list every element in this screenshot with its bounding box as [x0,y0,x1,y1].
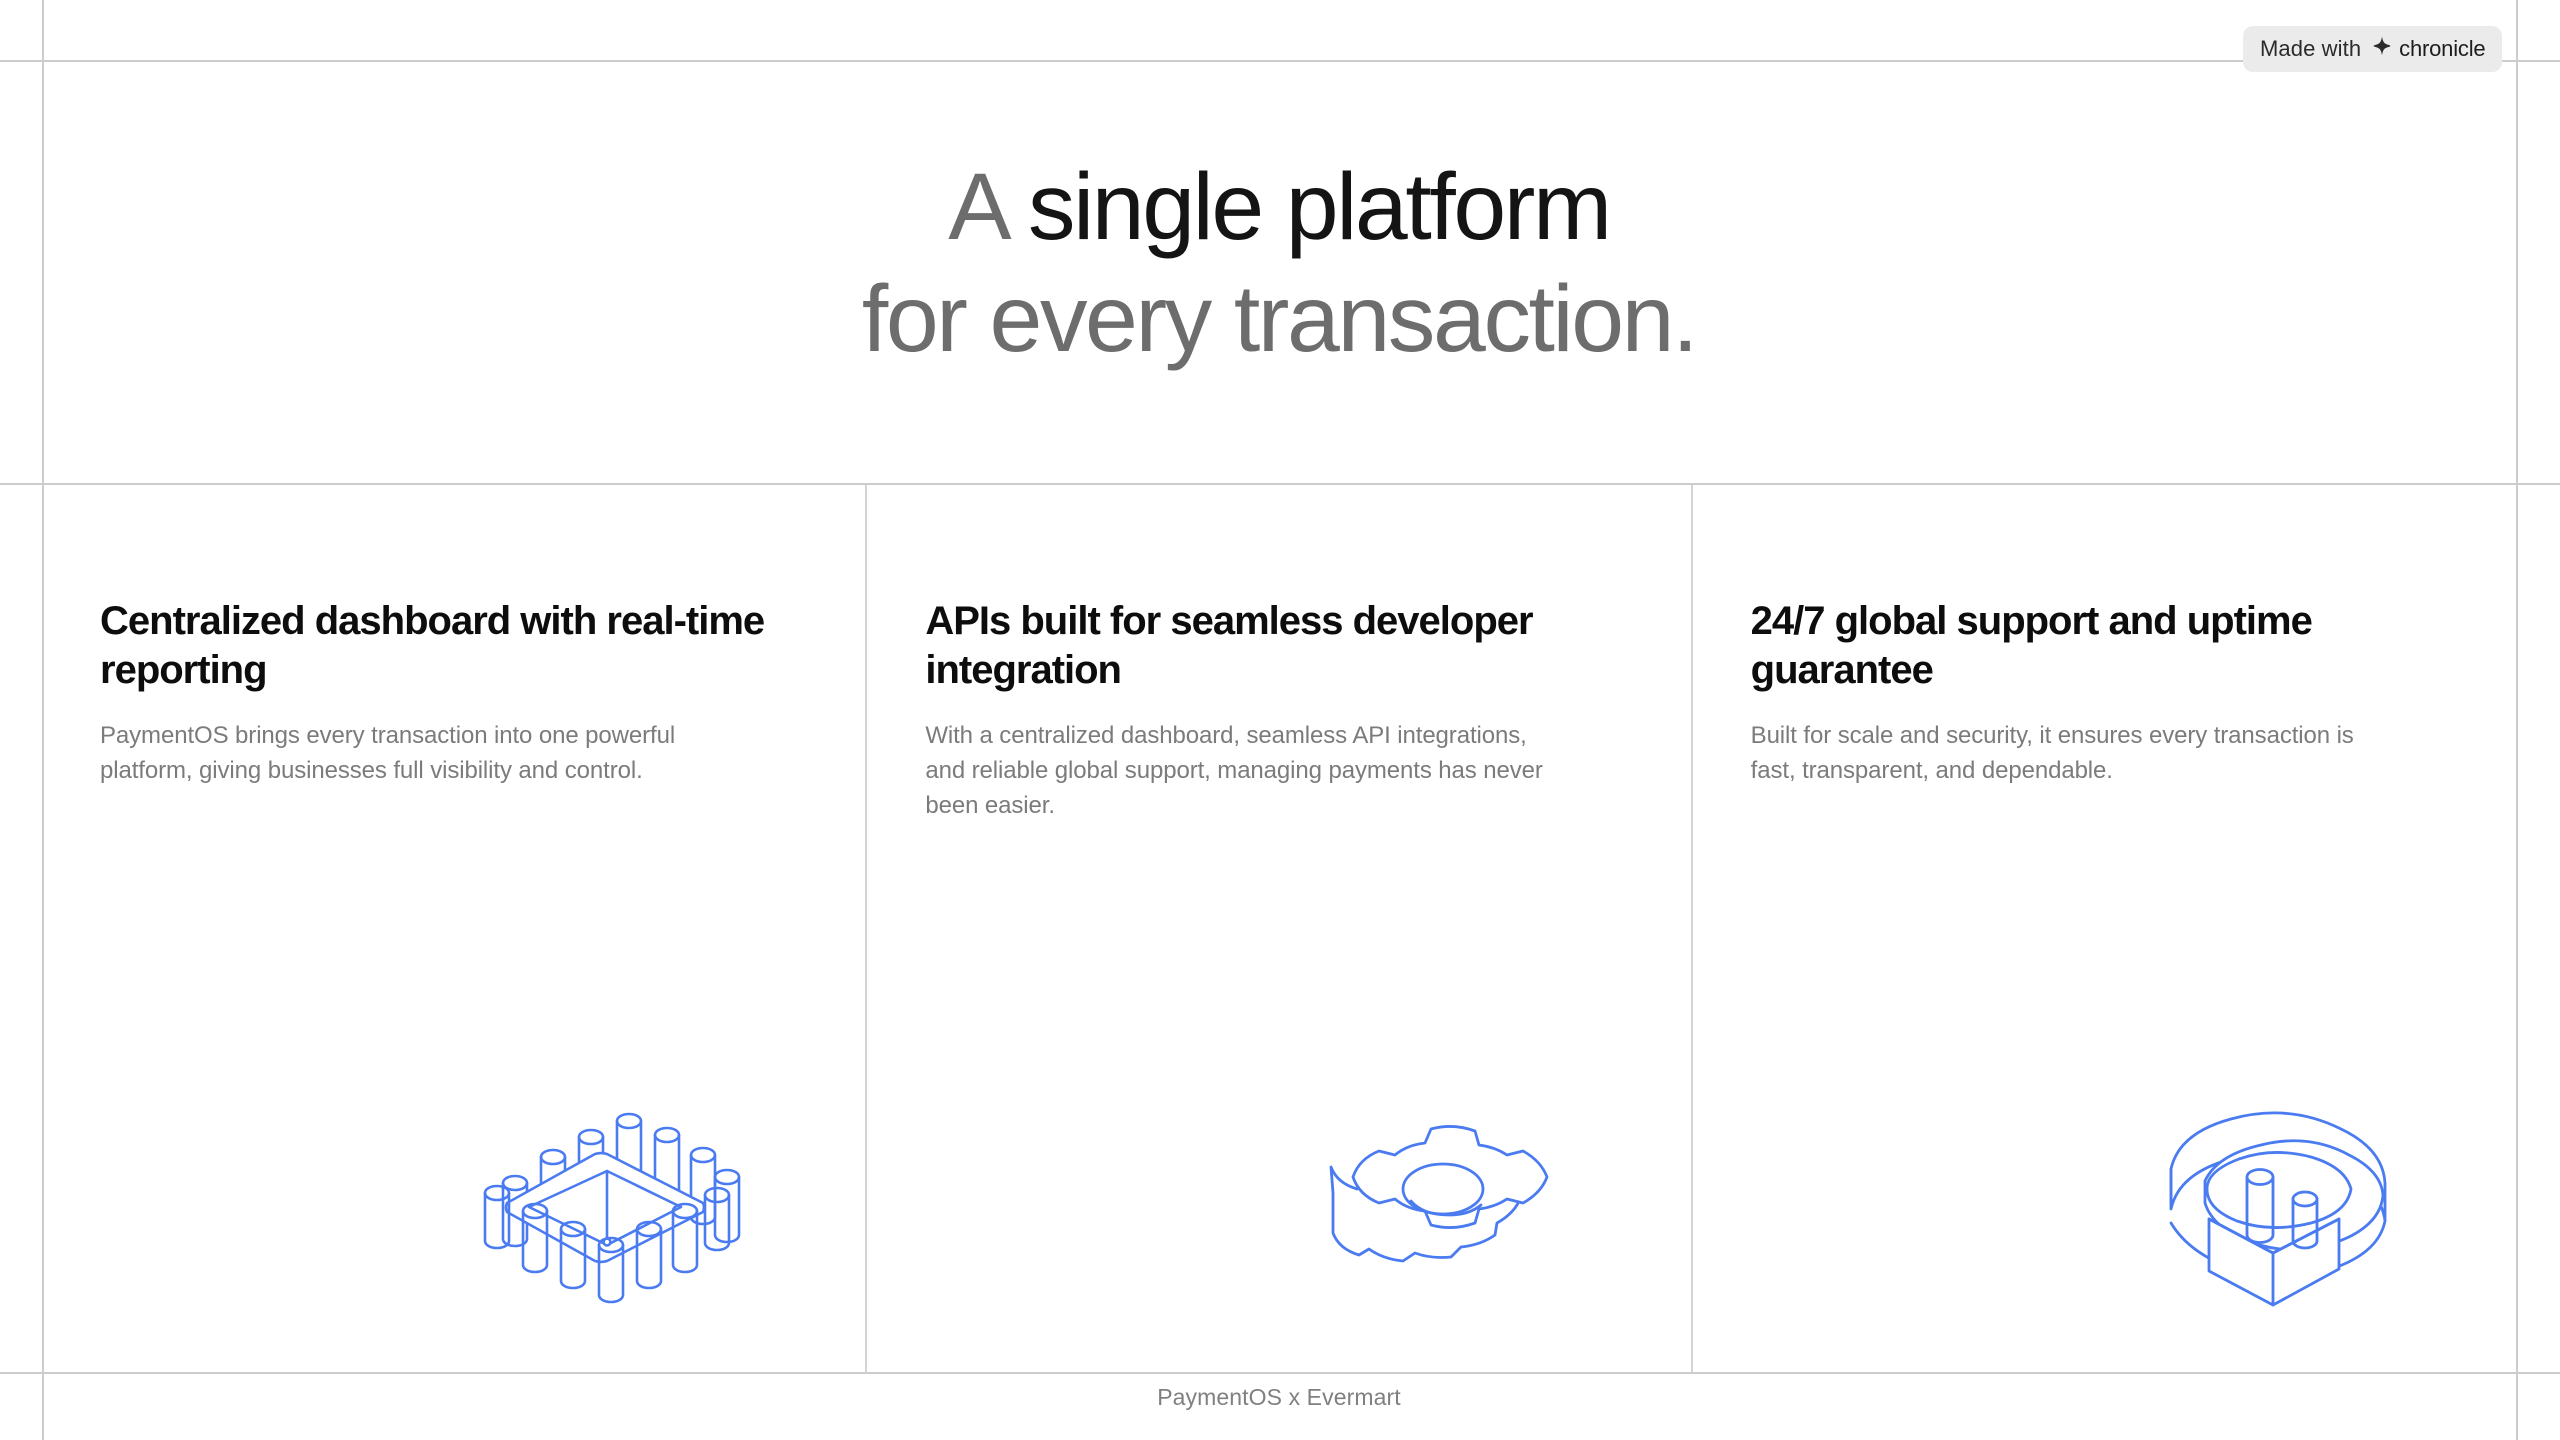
headset-support-icon [2143,1099,2438,1372]
gear-icon [1313,1109,1613,1372]
chronicle-wordmark: chronicle [2399,36,2485,62]
card-body: PaymentOS brings every transaction into … [100,718,740,788]
made-with-chronicle-badge[interactable]: Made with chronicle [2243,26,2502,72]
slide-footer: PaymentOS x Evermart [42,1374,2516,1438]
chronicle-logo: chronicle [2370,35,2485,64]
sparkle-icon [2370,35,2394,64]
feature-card-dashboard: Centralized dashboard with real-time rep… [42,485,865,1372]
badge-made-with-label: Made with [2260,36,2361,62]
card-body: With a centralized dashboard, seamless A… [925,718,1565,823]
card-body: Built for scale and security, it ensures… [1751,718,2391,788]
feature-card-support: 24/7 global support and uptime guarantee… [1691,485,2516,1372]
headline-line-1-dark: single platform [1028,154,1610,260]
headline-line-1-dim: A [948,154,1028,260]
card-title: 24/7 global support and uptime guarantee [1751,597,2438,695]
grid-guide-right [2516,0,2518,1440]
headline-line-1: A single platform [948,152,1610,263]
chip-processor-icon [467,1099,787,1372]
footer-label: PaymentOS x Evermart [1157,1384,1401,1411]
card-title: APIs built for seamless developer integr… [925,597,1612,695]
slide-canvas: Made with chronicle A single platform fo… [0,0,2560,1440]
headline-block: A single platform for every transaction. [42,62,2516,483]
card-title: Centralized dashboard with real-time rep… [100,597,787,695]
headline-line-2: for every transaction. [862,264,1696,375]
feature-cards-row: Centralized dashboard with real-time rep… [42,485,2516,1372]
feature-card-apis: APIs built for seamless developer integr… [865,485,1690,1372]
